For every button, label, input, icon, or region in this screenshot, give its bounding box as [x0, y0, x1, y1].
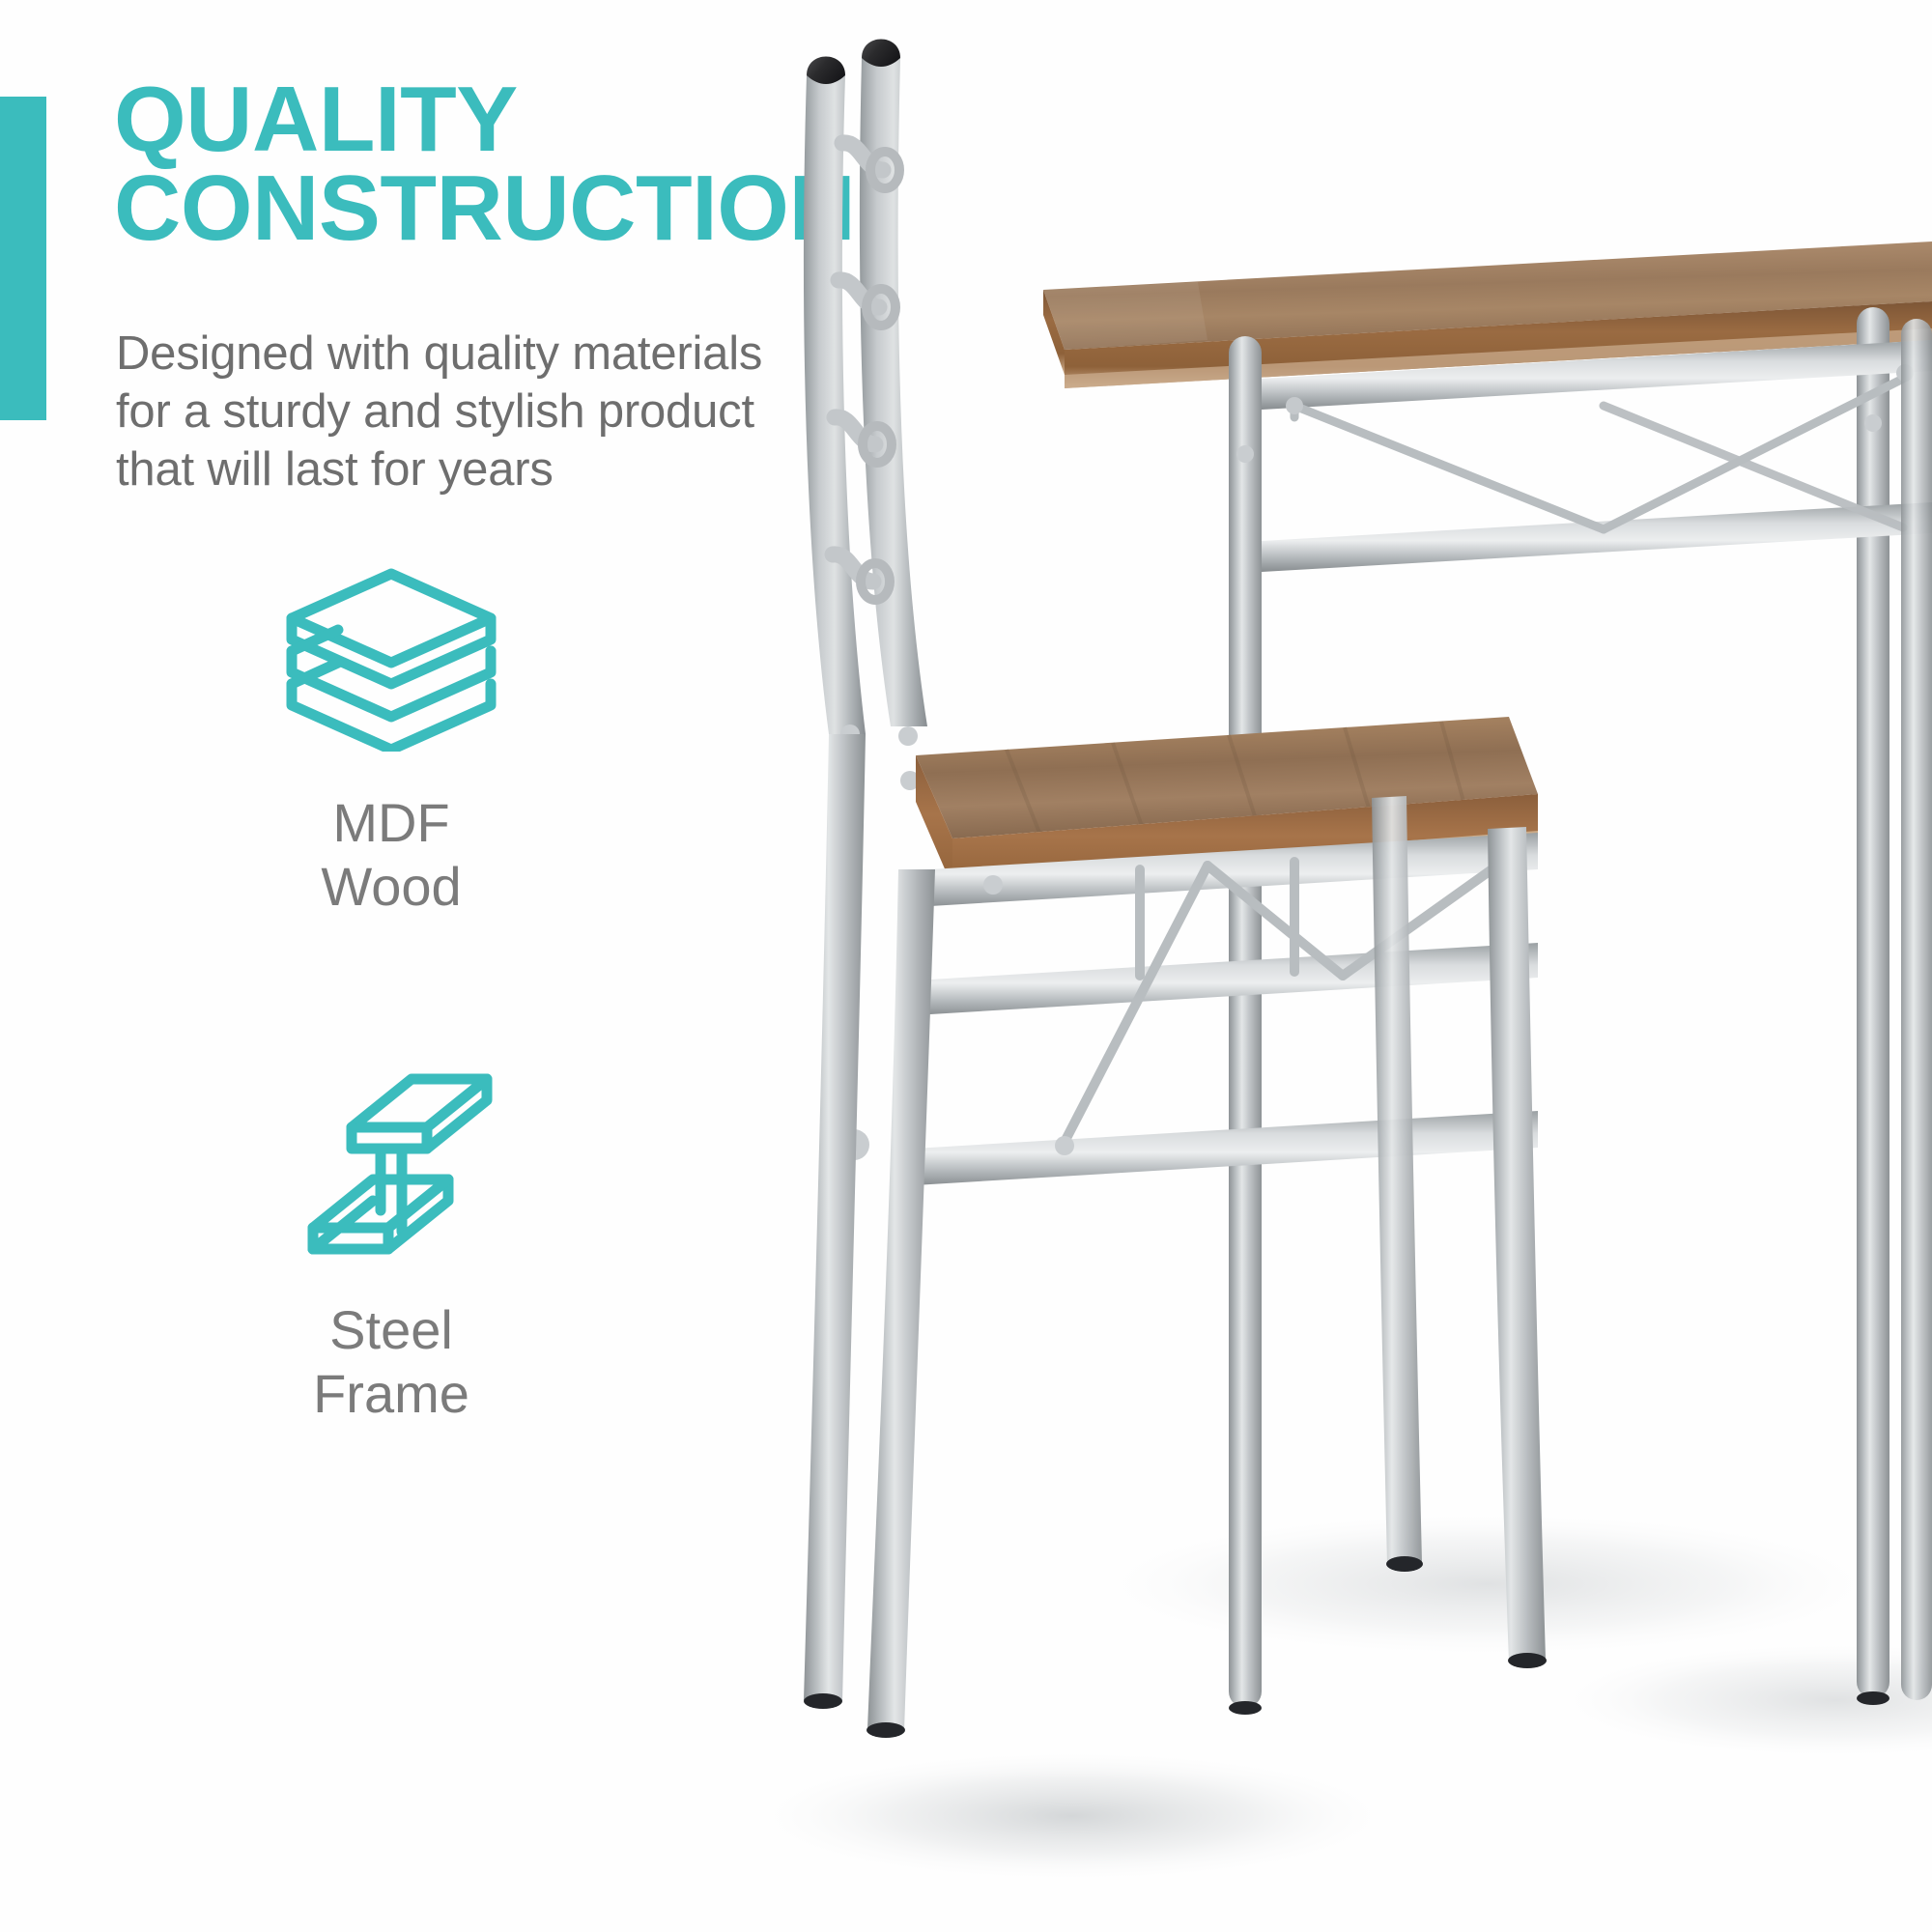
table-apron-lower	[1262, 502, 1932, 572]
feature-label-line-2: Frame	[188, 1362, 594, 1426]
floor-shadow-chair	[753, 1748, 1401, 1884]
table-right-support	[1901, 319, 1932, 1700]
feature-label-line-1: MDF	[188, 791, 594, 855]
product-feature-banner: QUALITY CONSTRUCTION Designed with quali…	[0, 0, 1932, 1932]
screw	[1864, 414, 1882, 432]
screw	[1236, 445, 1254, 463]
i-beam-icon	[188, 1063, 594, 1265]
chair-leg-front-left	[867, 869, 935, 1731]
chair-brace-bolts	[983, 875, 1074, 1155]
chair-apron-low	[898, 1111, 1538, 1186]
chair-leg-rear-right	[1372, 796, 1422, 1565]
table-leg-front-left	[1229, 336, 1262, 1708]
chair-foot-cap-front-left	[867, 1722, 905, 1738]
chair-foot-cap-rear-left	[804, 1693, 842, 1709]
feature-steel-frame: Steel Frame	[188, 1063, 594, 1426]
feature-label-line-2: Wood	[188, 855, 594, 919]
feature-label-steel: Steel Frame	[188, 1298, 594, 1426]
table-brace-bolt	[1286, 397, 1303, 414]
layers-stack-icon	[188, 555, 594, 758]
chair-apron-mid	[898, 943, 1538, 1016]
accent-bar	[0, 97, 46, 420]
product-photo	[753, 0, 1932, 1932]
chair-cross-brace	[1063, 862, 1497, 1146]
floor-shadow-table	[1082, 1509, 1893, 1660]
table-foot-cap-left	[1229, 1701, 1262, 1715]
chair-back-post-rear	[804, 75, 866, 734]
feature-label-mdf: MDF Wood	[188, 791, 594, 919]
headline-line-1: QUALITY	[114, 68, 518, 171]
table-foot-cap-right	[1857, 1691, 1889, 1705]
chair-leg-rear-left	[804, 734, 866, 1702]
chair-foot-cap-rear-right	[1386, 1556, 1423, 1572]
chair-foot-cap-front-right	[1508, 1653, 1547, 1668]
feature-mdf-wood: MDF Wood	[188, 555, 594, 919]
feature-label-line-1: Steel	[188, 1298, 594, 1362]
